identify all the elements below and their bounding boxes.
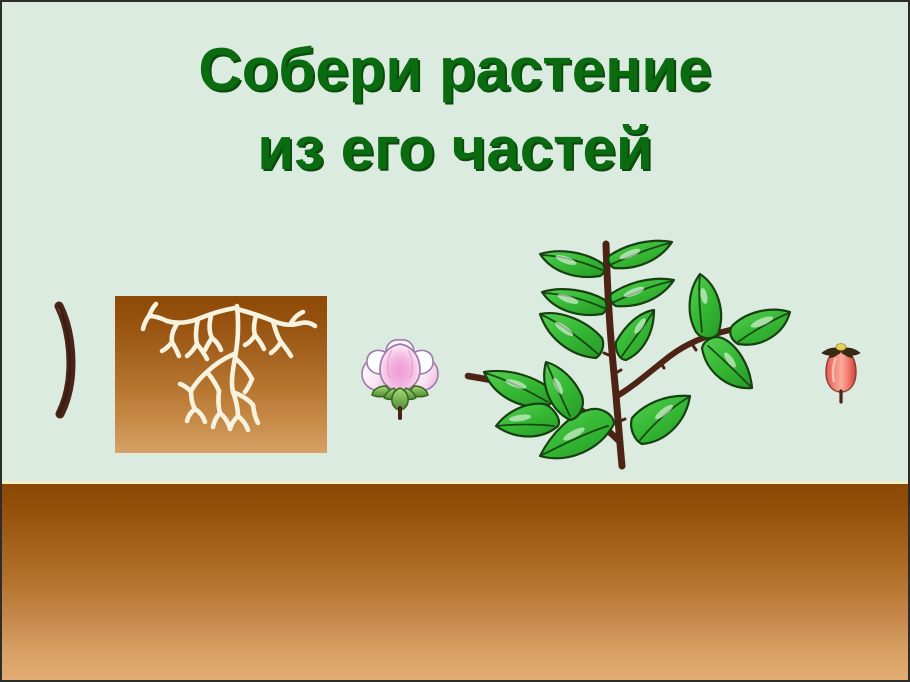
stem-segment-icon: [46, 302, 90, 418]
part-root-card[interactable]: [115, 296, 327, 453]
root-system-icon: [115, 296, 327, 453]
leafy-branch-icon: [454, 234, 794, 474]
page-title: Собери растение из его частей: [2, 30, 908, 188]
rose-hip-fruit-icon: [818, 336, 864, 402]
part-fruit[interactable]: [818, 336, 864, 402]
part-stem-piece[interactable]: [46, 302, 90, 418]
slide-canvas: Собери растение из его частей: [0, 0, 910, 682]
soil-ground: [2, 484, 908, 680]
flower-icon: [352, 328, 448, 418]
part-leafy-plant[interactable]: [454, 234, 794, 474]
part-flower[interactable]: [352, 328, 448, 418]
